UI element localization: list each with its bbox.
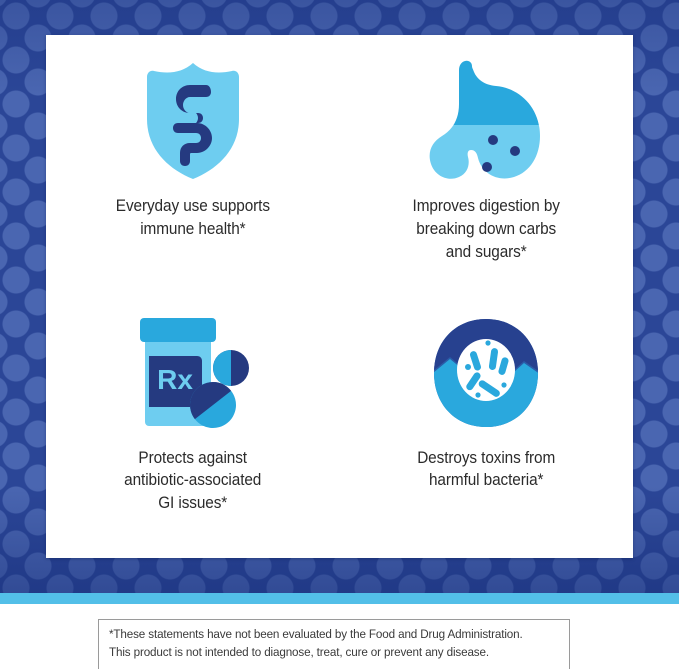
caption-line: Destroys toxins from bbox=[417, 447, 555, 470]
disclaimer-line-1: *These statements have not been evaluate… bbox=[109, 626, 537, 644]
caption-line: GI issues* bbox=[124, 492, 261, 515]
disclaimer-box: *These statements have not been evaluate… bbox=[98, 619, 570, 669]
caption-line: breaking down carbs bbox=[413, 218, 560, 241]
caption-line: Everyday use supports bbox=[116, 195, 270, 218]
benefit-item-antibiotic: Rx Protects against bbox=[46, 297, 340, 559]
benefit-caption: Improves digestion by breaking down carb… bbox=[413, 195, 560, 263]
cyan-divider-strip bbox=[0, 593, 679, 604]
caption-line: antibiotic-associated bbox=[124, 469, 261, 492]
shield-intestine-icon bbox=[118, 57, 268, 185]
footer: *These statements have not been evaluate… bbox=[0, 604, 679, 669]
benefit-item-digestion: Improves digestion by breaking down carb… bbox=[340, 35, 634, 297]
caption-line: Improves digestion by bbox=[413, 195, 560, 218]
benefits-card: Everyday use supports immune health* bbox=[46, 35, 633, 558]
caption-line: and sugars* bbox=[413, 241, 560, 264]
infographic-page: Everyday use supports immune health* bbox=[0, 0, 679, 669]
caption-line: immune health* bbox=[116, 218, 270, 241]
rx-pill-bottle-icon: Rx bbox=[118, 309, 268, 437]
caption-line: harmful bacteria* bbox=[417, 469, 555, 492]
caption-line: Protects against bbox=[124, 447, 261, 470]
benefit-caption: Everyday use supports immune health* bbox=[116, 195, 270, 241]
stomach-icon bbox=[411, 57, 561, 185]
benefits-grid: Everyday use supports immune health* bbox=[46, 35, 633, 558]
bacteria-shield-icon bbox=[411, 309, 561, 437]
rx-label: Rx bbox=[157, 364, 193, 395]
benefit-caption: Destroys toxins from harmful bacteria* bbox=[417, 447, 555, 493]
benefit-item-toxins: Destroys toxins from harmful bacteria* bbox=[340, 297, 634, 559]
benefit-caption: Protects against antibiotic-associated G… bbox=[124, 447, 261, 515]
benefit-item-immune: Everyday use supports immune health* bbox=[46, 35, 340, 297]
disclaimer-line-2: This product is not intended to diagnose… bbox=[109, 644, 537, 662]
